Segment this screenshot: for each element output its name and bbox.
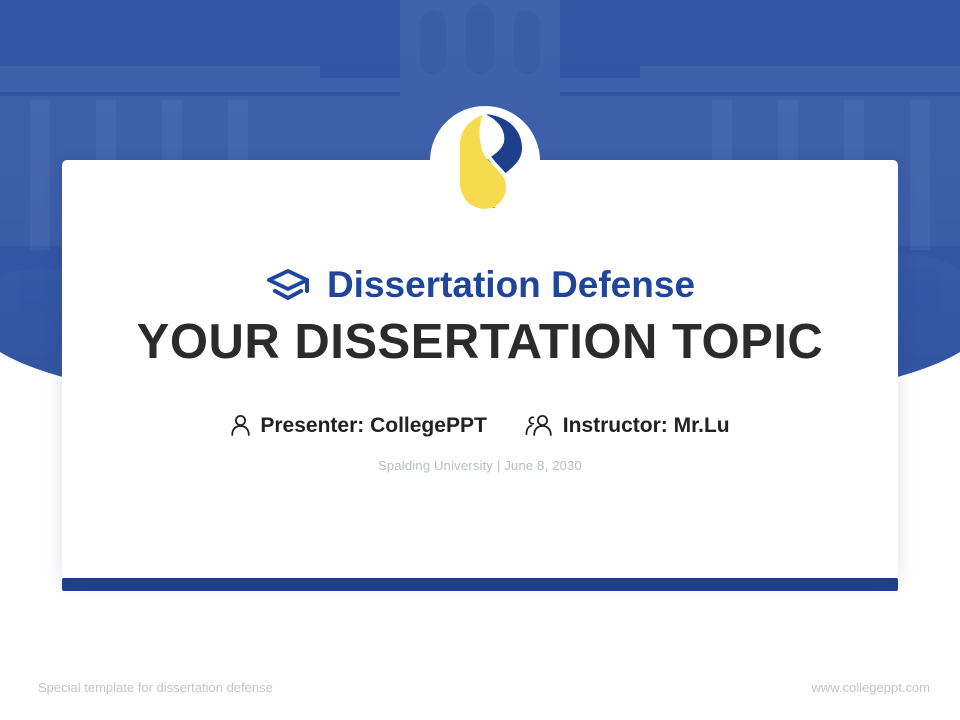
eyebrow-label: Dissertation Defense [327,266,695,303]
graduation-cap-icon [265,267,311,303]
instructor-credit: Instructor: Mr.Lu [525,414,730,437]
footer-right-url: www.collegeppt.com [812,680,931,695]
card-content: Dissertation Defense YOUR DISSERTATION T… [62,160,898,578]
footer-left-text: Special template for dissertation defens… [38,680,273,695]
presenter-label: Presenter: CollegePPT [260,415,486,436]
presentation-slide: Dissertation Defense YOUR DISSERTATION T… [0,0,960,720]
university-and-date: Spalding University | June 8, 2030 [378,458,582,473]
presenter-credit: Presenter: CollegePPT [230,414,486,437]
dissertation-defense-heading: Dissertation Defense [265,266,695,303]
page-title: YOUR DISSERTATION TOPIC [137,317,824,368]
instructor-label: Instructor: Mr.Lu [563,415,730,436]
card-accent-bar [62,578,898,591]
people-group-icon [525,414,554,437]
person-icon [230,414,251,437]
credits-row: Presenter: CollegePPT Instructor: Mr.Lu [230,414,729,437]
spalding-university-seal-icon [430,106,540,216]
